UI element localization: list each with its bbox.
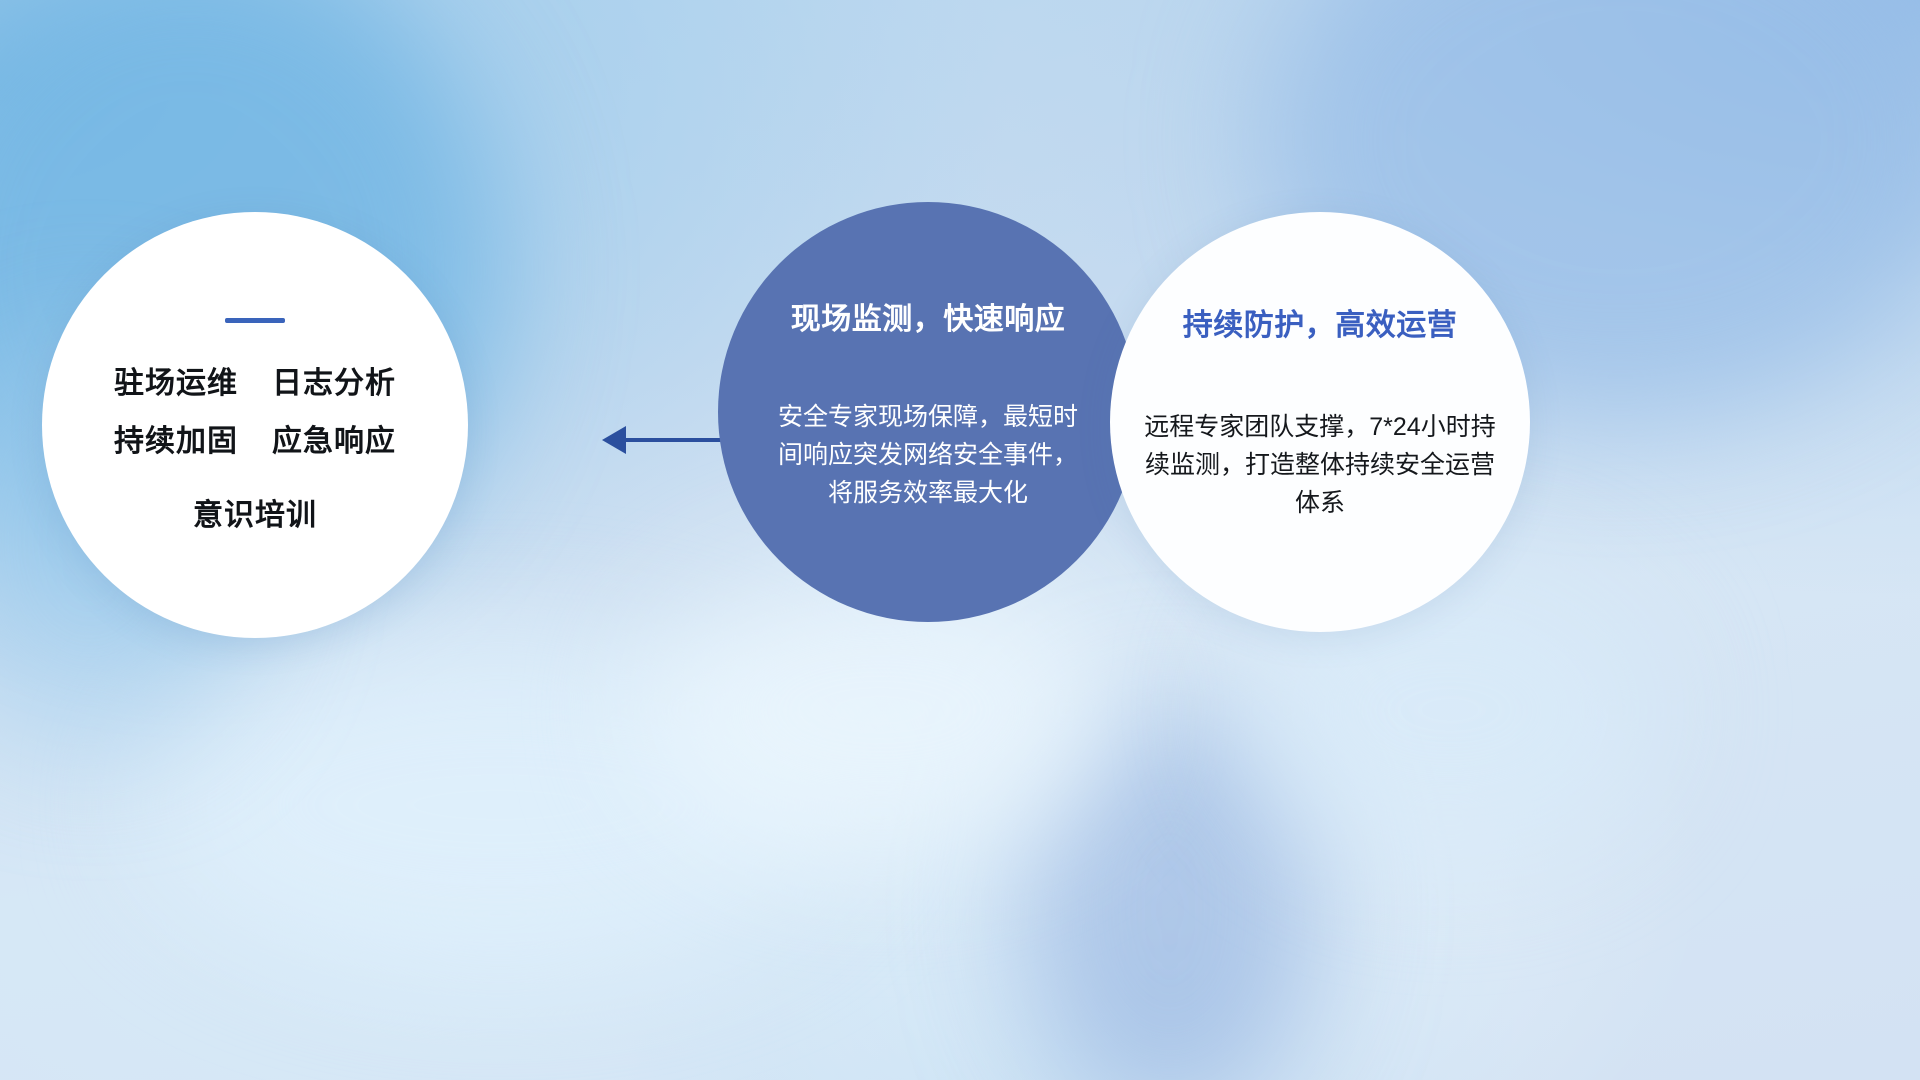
diagram-stage: 驻场运维 日志分析 持续加固 应急响应 意识培训 现场监测，快速响应 安全专家现…: [0, 0, 1920, 1080]
divider-dash: [225, 318, 285, 323]
node-description: 安全专家现场保障，最短时间响应突发网络安全事件，将服务效率最大化: [778, 398, 1078, 512]
node-title: 现场监测，快速响应: [791, 294, 1066, 338]
node-continuous-protection-circle[interactable]: 持续防护，高效运营 远程专家团队支撑，7*24小时持续监测，打造整体持续安全运营…: [1110, 212, 1530, 632]
node-description: 远程专家团队支撑，7*24小时持续监测，打造整体持续安全运营体系: [1144, 408, 1496, 522]
keyword-row: 驻场运维 日志分析: [114, 365, 396, 403]
keyword-item: 持续加固: [114, 423, 238, 461]
keyword-item: 意识培训: [193, 490, 317, 534]
keyword-item: 日志分析: [272, 365, 396, 403]
keyword-item: 应急响应: [272, 423, 396, 461]
keyword-row: 持续加固 应急响应: [114, 423, 396, 461]
node-onsite-monitoring-circle[interactable]: 现场监测，快速响应 安全专家现场保障，最短时间响应突发网络安全事件，将服务效率最…: [718, 202, 1138, 622]
node-capabilities-circle[interactable]: 驻场运维 日志分析 持续加固 应急响应 意识培训: [42, 212, 468, 638]
node-title: 持续防护，高效运营: [1183, 300, 1458, 344]
keyword-item: 驻场运维: [114, 365, 238, 403]
